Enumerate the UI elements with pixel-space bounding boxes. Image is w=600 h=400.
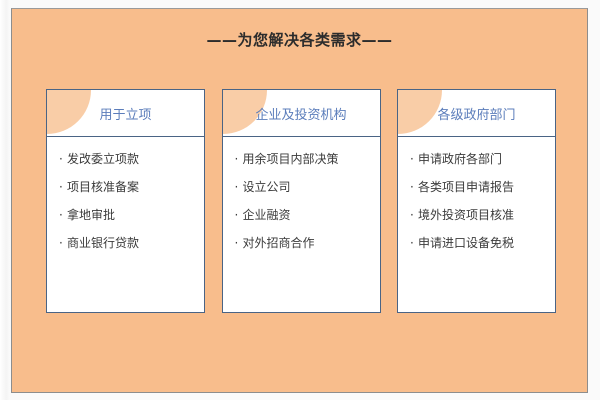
screenshot-canvas: ——为您解决各类需求—— 用于立项 · 发改委立项款 · 项目核准备案 <box>0 0 600 400</box>
list-item-label: 用余项目内部决策 <box>243 150 339 167</box>
card-title: 各级政府部门 <box>437 104 515 123</box>
bullet-dot-icon: · <box>410 152 418 166</box>
card-item-list: · 用余项目内部决策 · 设立公司 · 企业融资 · 对外招商合作 <box>223 137 380 251</box>
bullet-dot-icon: · <box>410 236 418 250</box>
card-header: 各级政府部门 <box>398 90 555 137</box>
list-item-label: 境外投资项目核准 <box>418 206 514 223</box>
bullet-dot-icon: · <box>59 180 67 194</box>
list-item[interactable]: · 境外投资项目核准 <box>410 206 555 223</box>
bullet-dot-icon: · <box>235 208 243 222</box>
list-item-label: 申请政府各部门 <box>418 150 502 167</box>
card-title: 用于立项 <box>99 104 151 123</box>
list-item-label: 设立公司 <box>243 178 291 195</box>
list-item[interactable]: · 申请进口设备免税 <box>410 234 555 251</box>
list-item-label: 拿地审批 <box>67 206 115 223</box>
requirements-panel: ——为您解决各类需求—— 用于立项 · 发改委立项款 · 项目核准备案 <box>11 8 588 393</box>
list-item-label: 对外招商合作 <box>243 234 315 251</box>
list-item[interactable]: · 对外招商合作 <box>235 234 380 251</box>
list-item[interactable]: · 设立公司 <box>235 178 380 195</box>
bullet-dot-icon: · <box>410 208 418 222</box>
card-geji-zhengfu-bumen[interactable]: 各级政府部门 · 申请政府各部门 · 各类项目申请报告 · 境外投资项目核准 <box>397 89 556 313</box>
bullet-dot-icon: · <box>59 208 67 222</box>
bullet-dot-icon: · <box>235 152 243 166</box>
card-qiye-touzi-jigou[interactable]: 企业及投资机构 · 用余项目内部决策 · 设立公司 · 企业融资 <box>222 89 381 313</box>
list-item-label: 商业银行贷款 <box>67 234 139 251</box>
card-item-list: · 发改委立项款 · 项目核准备案 · 拿地审批 · 商业银行贷款 <box>47 137 204 251</box>
bullet-dot-icon: · <box>235 180 243 194</box>
bullet-dot-icon: · <box>59 236 67 250</box>
card-group: 用于立项 · 发改委立项款 · 项目核准备案 · 拿地审批 <box>46 89 556 313</box>
list-item-label: 发改委立项款 <box>67 150 139 167</box>
list-item-label: 申请进口设备免税 <box>418 234 514 251</box>
list-item[interactable]: · 拿地审批 <box>59 206 204 223</box>
card-title: 企业及投资机构 <box>255 104 346 123</box>
card-header: 用于立项 <box>47 90 204 137</box>
card-item-list: · 申请政府各部门 · 各类项目申请报告 · 境外投资项目核准 · 申请进口设备… <box>398 137 555 251</box>
page-title: ——为您解决各类需求—— <box>12 29 587 50</box>
list-item[interactable]: · 申请政府各部门 <box>410 150 555 167</box>
bullet-dot-icon: · <box>59 152 67 166</box>
bullet-dot-icon: · <box>410 180 418 194</box>
list-item-label: 各类项目申请报告 <box>418 178 514 195</box>
list-item[interactable]: · 企业融资 <box>235 206 380 223</box>
card-header: 企业及投资机构 <box>223 90 380 137</box>
list-item[interactable]: · 各类项目申请报告 <box>410 178 555 195</box>
list-item-label: 项目核准备案 <box>67 178 139 195</box>
list-item[interactable]: · 用余项目内部决策 <box>235 150 380 167</box>
card-yongyu-lixiang[interactable]: 用于立项 · 发改委立项款 · 项目核准备案 · 拿地审批 <box>46 89 205 313</box>
list-item[interactable]: · 发改委立项款 <box>59 150 204 167</box>
list-item[interactable]: · 项目核准备案 <box>59 178 204 195</box>
list-item-label: 企业融资 <box>243 206 291 223</box>
bullet-dot-icon: · <box>235 236 243 250</box>
list-item[interactable]: · 商业银行贷款 <box>59 234 204 251</box>
